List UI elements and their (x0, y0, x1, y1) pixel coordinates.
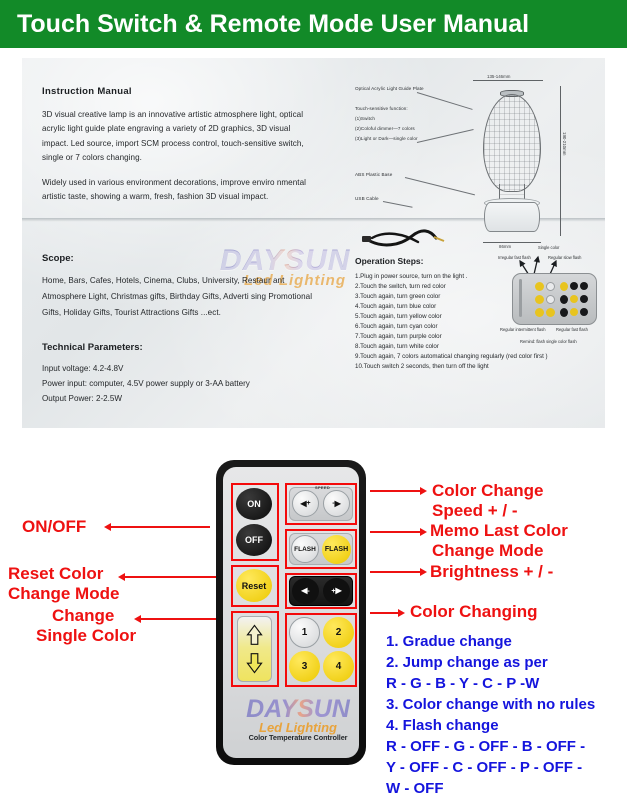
lamp-diagram: Optical Acrylic Light Guide Plate Touch-… (355, 80, 600, 260)
arrow-change (134, 615, 141, 623)
arrow-speed (420, 487, 427, 495)
key-mode-4[interactable]: 4 (323, 651, 354, 682)
lead-line-reset (124, 576, 216, 578)
color-mode-line: 3. Color change with no rules (386, 696, 595, 714)
arrow-on-off (104, 523, 111, 531)
callout-touch-function: Touch-sensitive function: (355, 106, 408, 111)
thumb-key-8 (560, 295, 568, 304)
anno-memo-line1: Memo Last Color (430, 521, 568, 541)
arrow-brightness (420, 568, 427, 576)
thumb-key-15 (580, 308, 588, 316)
anno-reset-color-line1: Reset Color (8, 564, 103, 584)
anno-reset-color-line2: Change Mode (8, 584, 119, 604)
arrow-reset (118, 573, 125, 581)
color-mode-line: 4. Flash change (386, 717, 499, 735)
remote-brand-block: DAYSUN Led Lighting Color Temperature Co… (235, 695, 361, 742)
label-remind: Remind: flash single color flash (520, 339, 577, 344)
key-brightness-decrease[interactable]: ◀- (292, 578, 319, 604)
operation-step: 10.Touch switch 2 seconds, then turn off… (355, 362, 535, 372)
scope-text: Home, Bars, Cafes, Hotels, Cinema, Clubs… (42, 273, 327, 320)
thumb-key-14 (570, 308, 578, 316)
arrow-memo (420, 528, 427, 536)
color-mode-line: Y - OFF - C - OFF - P - OFF - (386, 759, 582, 777)
key-mode-1[interactable]: 1 (289, 617, 320, 648)
lead-line-on-off (110, 526, 210, 528)
anno-memo-line2: Change Mode (432, 541, 543, 561)
page-header: Touch Switch & Remote Mode User Manual (0, 0, 627, 48)
instruction-heading: Instruction Manual (42, 86, 317, 97)
page-title: Touch Switch & Remote Mode User Manual (0, 10, 529, 39)
key-off[interactable]: OFF (236, 524, 272, 556)
anno-change-line2: Single Color (36, 626, 136, 646)
thumb-key-12 (546, 308, 555, 317)
callout-light-guide-plate: Optical Acrylic Light Guide Plate (355, 86, 424, 91)
anno-color-change-line1: Color Change (432, 481, 543, 501)
thumb-side-strip (519, 279, 522, 317)
dim-line-width (473, 80, 543, 81)
color-mode-line: 1. Gradue change (386, 633, 512, 651)
dim-line-height (560, 86, 561, 236)
left-annotations: ON/OFF Reset Color Change Mode Change Si… (0, 440, 216, 800)
thumb-key-11 (535, 308, 544, 317)
instruction-paragraph-1: 3D visual creative lamp is an innovative… (42, 108, 317, 166)
dim-line-base (483, 242, 541, 243)
right-annotations: Color Change Speed + / - Memo Last Color… (366, 440, 627, 800)
color-mode-line: R - OFF - G - OFF - B - OFF - (386, 738, 585, 756)
technical-heading: Technical Parameters: (42, 342, 327, 353)
speed-caption: SPEED (315, 485, 330, 490)
thumb-key-1 (535, 282, 544, 291)
key-mode-2[interactable]: 2 (323, 617, 354, 648)
lead-line-brightness (370, 571, 422, 573)
color-mode-line: W - OFF (386, 780, 443, 798)
callout-leader-1 (417, 92, 473, 110)
thumb-key-9 (570, 295, 578, 303)
anno-color-changing: Color Changing (410, 602, 537, 622)
key-speed-increase[interactable]: -▶ (323, 490, 350, 517)
anno-change-line1: Change (52, 606, 114, 626)
anno-brightness: Brightness + / - (430, 562, 553, 582)
anno-color-change-line2: Speed + / - (432, 501, 518, 521)
manual-photo-panel: Instruction Manual 3D visual creative la… (22, 58, 605, 428)
thumb-key-5 (580, 282, 588, 290)
key-reset[interactable]: Reset (236, 569, 272, 602)
bulb-drawing (467, 88, 553, 248)
lead-line-memo (370, 531, 422, 533)
operation-step: 9.Touch again, 7 colors automatical chan… (355, 352, 535, 362)
anno-on-off: ON/OFF (22, 517, 86, 537)
thumb-key-10 (580, 295, 588, 303)
param-output-power: Output Power: 2-2.5W (42, 392, 327, 407)
callout-leader-2 (417, 129, 474, 143)
remote-faceplate: ON OFF Reset SPEED ◀+ -▶ (223, 467, 359, 758)
instruction-paragraph-2: Widely used in various environment decor… (42, 176, 317, 205)
key-flash-left[interactable]: FLASH (291, 535, 319, 563)
lead-line-color-changing (370, 612, 400, 614)
callout-light-or-dark: (3)Light or Dark—single color (355, 136, 418, 141)
usb-cable-drawing (360, 200, 450, 250)
thumb-key-13 (560, 308, 568, 317)
key-speed-decrease-label: + (307, 500, 311, 507)
key-mode-3[interactable]: 3 (289, 651, 320, 682)
bulb-base (484, 202, 540, 232)
callout-leader-3 (405, 177, 475, 195)
thumb-key-7 (546, 295, 555, 304)
lead-line-speed (370, 490, 422, 492)
triangle-right-icon: ▶ (335, 587, 341, 595)
thumb-key-4 (570, 282, 578, 290)
key-flash-right[interactable]: FLASH (322, 535, 351, 564)
instruction-manual-block: Instruction Manual 3D visual creative la… (42, 86, 317, 204)
technical-parameters-block: Technical Parameters: Input voltage: 4.2… (42, 342, 327, 407)
up-down-arrow-icon (238, 617, 271, 681)
lead-line-change (140, 618, 218, 620)
operation-step: 8.Touch again, turn white color (355, 342, 535, 352)
scope-block: Scope: Home, Bars, Cafes, Hotels, Cinema… (42, 253, 327, 407)
thumb-remote-body (512, 273, 597, 325)
remote-control-device[interactable]: ON OFF Reset SPEED ◀+ -▶ (216, 460, 366, 765)
color-mode-line: 2. Jump change as per (386, 654, 548, 672)
callout-colorful-dimmer: (2)Coloful dimmer—7 colors (355, 126, 415, 131)
key-on[interactable]: ON (236, 488, 272, 520)
param-input-voltage: Input voltage: 4.2-4.8V (42, 362, 327, 377)
dim-height-label: 190-210mm (562, 132, 567, 155)
bulb-glass-wireframe (483, 94, 541, 192)
key-speed-decrease[interactable]: ◀+ (292, 490, 319, 517)
callout-abs-plastic-base: ABS Plastic Base (355, 172, 392, 177)
remote-sublabel: Color Temperature Controller (235, 733, 361, 742)
color-mode-line: R - G - B - Y - C - P -W (386, 675, 539, 693)
remote-annotation-section: ON/OFF Reset Color Change Mode Change Si… (0, 440, 627, 800)
param-power-input: Power input: computer, 4.5V power supply… (42, 377, 327, 392)
thumb-key-6 (535, 295, 544, 304)
key-brightness-decrease-label: - (307, 588, 309, 595)
triangle-right-icon: ▶ (335, 500, 341, 508)
thumb-key-2 (546, 282, 555, 291)
scope-heading: Scope: (42, 253, 327, 264)
thumb-key-3 (560, 282, 568, 291)
pad-single-color[interactable] (237, 616, 272, 682)
callout-switch: (1)Switch (355, 116, 375, 121)
arrow-color-changing (398, 609, 405, 617)
dim-width-label: 135-146mm (487, 74, 510, 79)
remote-thumbnail-diagram: Single color Irregular fast flash Regula… (512, 273, 597, 333)
key-brightness-increase[interactable]: +▶ (323, 578, 350, 604)
